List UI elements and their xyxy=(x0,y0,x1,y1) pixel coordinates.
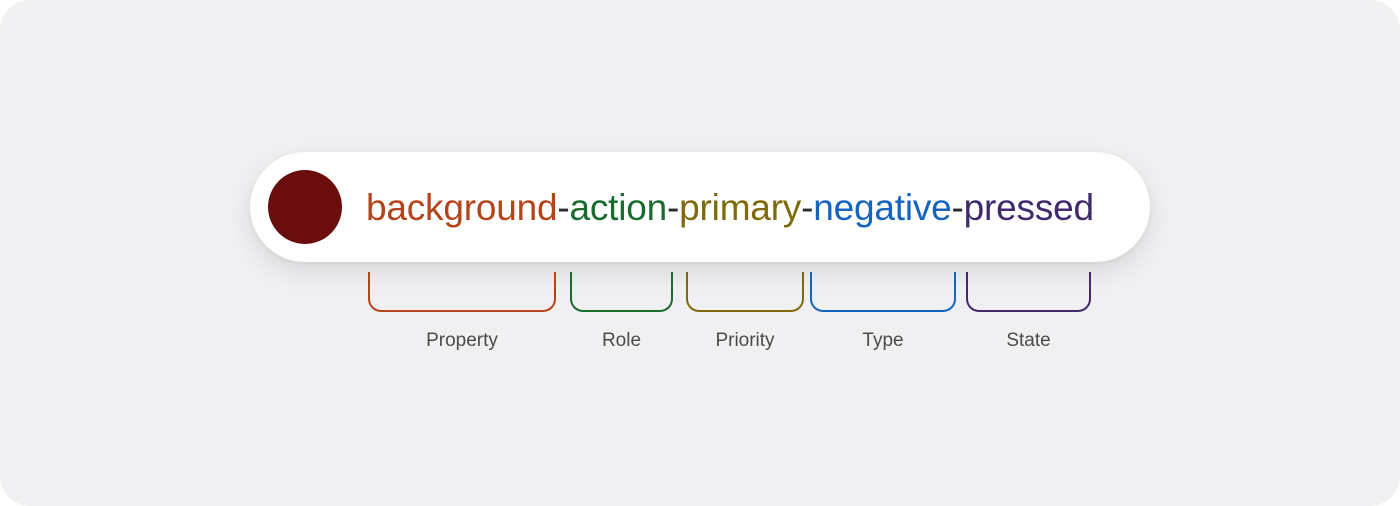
bracket-state xyxy=(966,272,1091,312)
bracket-type xyxy=(810,272,956,312)
part-label-priority: Priority xyxy=(686,326,804,356)
bracket-property xyxy=(368,272,556,312)
token-segment-type: negative xyxy=(813,187,951,228)
token-separator: - xyxy=(557,187,569,228)
part-label-type: Type xyxy=(810,326,956,356)
canvas-surface: background-action-primary-negative-press… xyxy=(0,0,1400,506)
token-segment-role: action xyxy=(570,187,668,228)
token-segment-property: background xyxy=(366,187,557,228)
token-name: background-action-primary-negative-press… xyxy=(366,189,1094,226)
screenshot-stage: background-action-primary-negative-press… xyxy=(0,0,1400,506)
token-segment-priority: primary xyxy=(679,187,801,228)
token-segment-state: pressed xyxy=(964,187,1094,228)
color-swatch[interactable] xyxy=(268,170,342,244)
bracket-priority xyxy=(686,272,804,312)
bracket-role xyxy=(570,272,673,312)
token-separator: - xyxy=(952,187,964,228)
part-label-group: PropertyRolePriorityTypeState xyxy=(0,326,1400,358)
token-separator: - xyxy=(801,187,813,228)
part-label-role: Role xyxy=(570,326,673,356)
design-token-card[interactable]: background-action-primary-negative-press… xyxy=(250,152,1150,262)
part-label-property: Property xyxy=(368,326,556,356)
part-label-state: State xyxy=(966,326,1091,356)
token-separator: - xyxy=(667,187,679,228)
bracket-group xyxy=(0,272,1400,316)
